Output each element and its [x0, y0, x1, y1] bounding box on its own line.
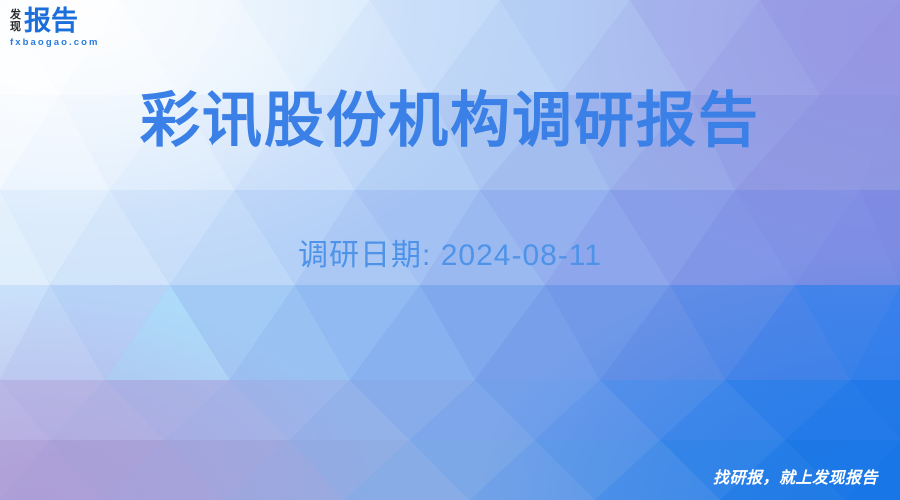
brand-logo[interactable]: 发 现 报告 fxbaogao.com [10, 8, 100, 48]
survey-date-subtitle: 调研日期: 2024-08-11 [0, 230, 900, 274]
logo-wordmark-row: 发 现 报告 [10, 8, 78, 35]
logo-stack-bottom: 现 [10, 22, 21, 34]
logo-domain-text: fxbaogao.com [10, 38, 100, 48]
logo-wordmark: 报告 [24, 8, 78, 35]
report-cover: 发 现 报告 fxbaogao.com 彩讯股份机构调研报告 调研日期: 202… [0, 0, 900, 500]
footer-tagline: 找研报，就上发现报告 [713, 464, 878, 488]
logo-stacked-characters: 发 现 [10, 9, 21, 33]
page-title: 彩讯股份机构调研报告 [0, 86, 900, 155]
